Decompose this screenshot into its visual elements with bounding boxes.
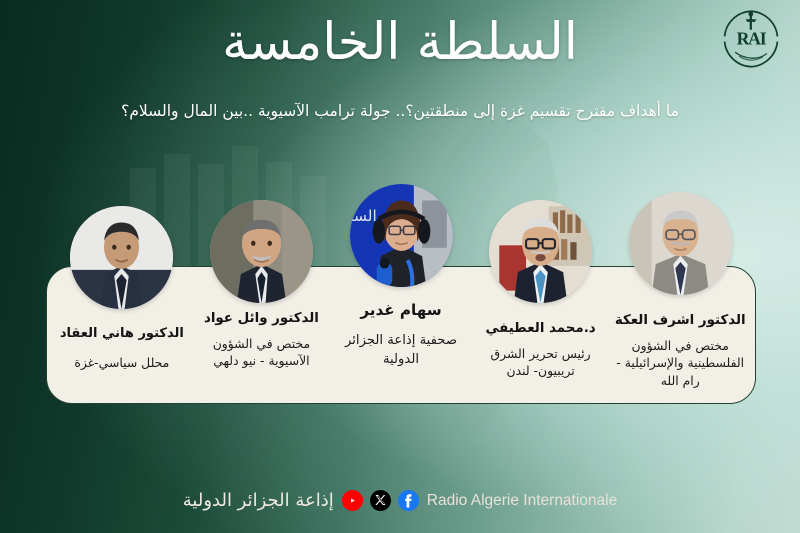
footer-brand-en: Radio Algerie Internationale bbox=[427, 492, 617, 510]
youtube-icon[interactable] bbox=[342, 490, 363, 511]
guest-role: مختص في الشؤون الفلسطينية والإسرائيلية -… bbox=[610, 337, 750, 390]
social-links bbox=[342, 490, 419, 511]
footer-brand-ar: إذاعة الجزائر الدولية bbox=[183, 490, 334, 511]
poster: RAI السلطة الخامسة ما أهداف مقترح تقسيم … bbox=[0, 0, 800, 533]
guest-role: رئيس تحرير الشرق تريبيون- لندن bbox=[471, 345, 611, 380]
guest-avatar bbox=[629, 192, 732, 295]
guest-avatar: السلط bbox=[350, 184, 453, 287]
guest-card: السلط سهام غدير صحفية إذاعة ا bbox=[331, 184, 471, 369]
guest-name: د.محمد العطيفي bbox=[486, 321, 596, 338]
guest-name: الدكتور اشرف العكة bbox=[615, 313, 746, 330]
guest-avatar bbox=[489, 200, 592, 303]
guests-row: الدكتور هاني العقاد محلل سياسي-غزة bbox=[46, 178, 756, 404]
guest-card: الدكتور هاني العقاد محلل سياسي-غزة bbox=[52, 206, 192, 372]
x-twitter-icon[interactable] bbox=[370, 490, 391, 511]
guest-card: د.محمد العطيفي رئيس تحرير الشرق تريبيون-… bbox=[471, 200, 611, 380]
guest-role: محلل سياسي-غزة bbox=[74, 354, 169, 372]
guest-card: الدكتور وائل عواد مختص في الشؤون الآسيوي… bbox=[192, 200, 332, 370]
facebook-icon[interactable] bbox=[398, 490, 419, 511]
guest-role: مختص في الشؤون الآسيوية - نيو دلهي bbox=[192, 335, 332, 370]
guest-name: الدكتور وائل عواد bbox=[204, 311, 319, 328]
footer: Radio Algerie Internationale إذاعة الجزا… bbox=[0, 490, 800, 511]
program-title: السلطة الخامسة bbox=[0, 14, 800, 73]
guest-name: الدكتور هاني العقاد bbox=[60, 326, 184, 342]
guest-name: سهام غدير bbox=[360, 301, 441, 320]
guest-avatar bbox=[210, 200, 313, 303]
guest-card: الدكتور اشرف العكة مختص في الشؤون الفلسط… bbox=[610, 192, 750, 390]
guest-role: صحفية إذاعة الجزائر الدولية bbox=[331, 332, 471, 369]
program-subtitle: ما أهداف مقترح تقسيم غزة إلى منطقتين؟.. … bbox=[0, 100, 800, 123]
guest-avatar bbox=[70, 206, 173, 309]
svg-text:السلط: السلط bbox=[350, 207, 377, 225]
